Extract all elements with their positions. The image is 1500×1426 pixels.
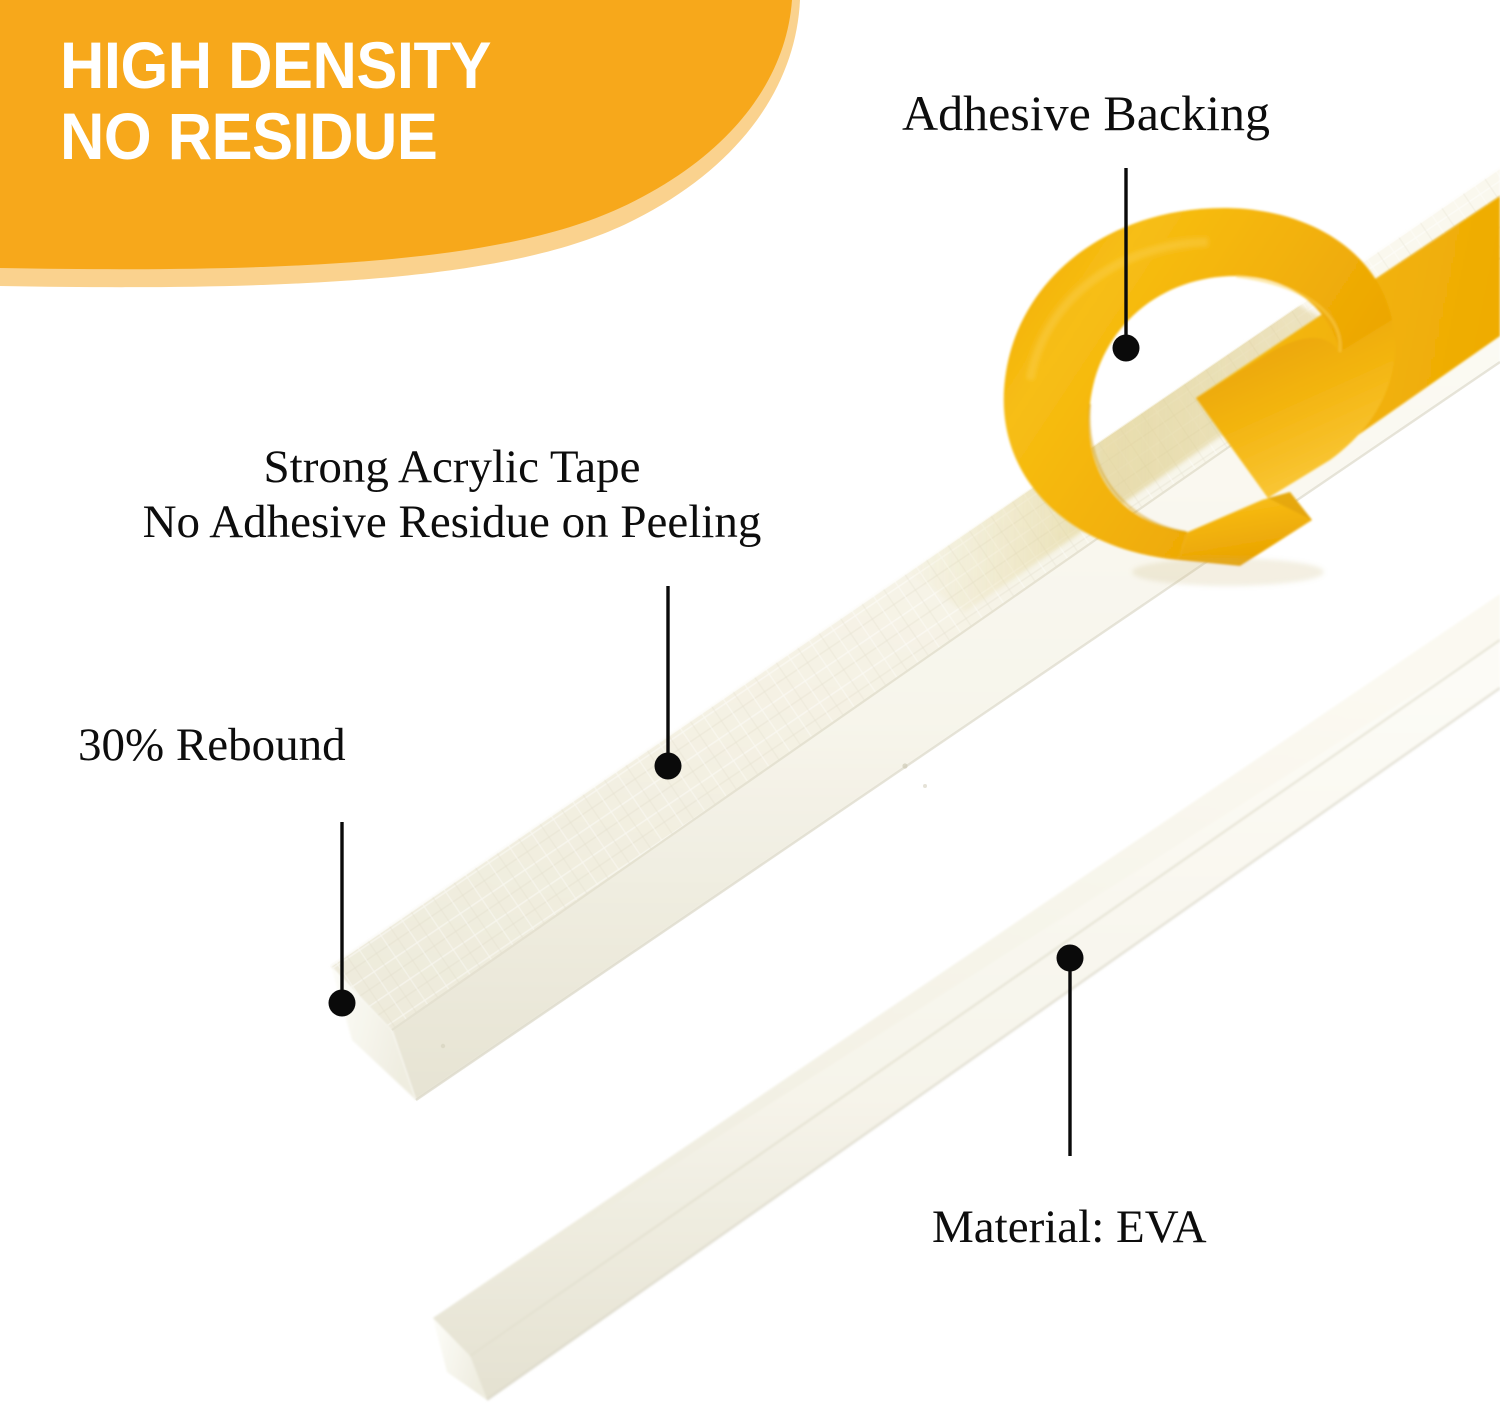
banner-headline: HIGH DENSITY NO RESIDUE [60,30,674,171]
headline-banner: HIGH DENSITY NO RESIDUE [0,0,830,300]
banner-headline-line1: HIGH DENSITY [60,30,674,101]
label-adhesive-backing: Adhesive Backing [902,84,1270,143]
label-rebound-text: 30% Rebound [78,718,346,773]
banner-headline-line2: NO RESIDUE [60,101,674,172]
label-strong-acrylic-tape: Strong Acrylic Tape No Adhesive Residue … [52,440,852,551]
infographic-canvas: HIGH DENSITY NO RESIDUE Adhesive Backing… [0,0,1500,1426]
label-material-text: Material: EVA [932,1200,1207,1255]
label-material: Material: EVA [932,1200,1207,1255]
label-acrylic-line1: Strong Acrylic Tape [52,440,852,495]
label-adhesive-backing-text: Adhesive Backing [902,84,1270,143]
label-acrylic-line2: No Adhesive Residue on Peeling [52,495,852,550]
label-rebound: 30% Rebound [78,718,346,773]
